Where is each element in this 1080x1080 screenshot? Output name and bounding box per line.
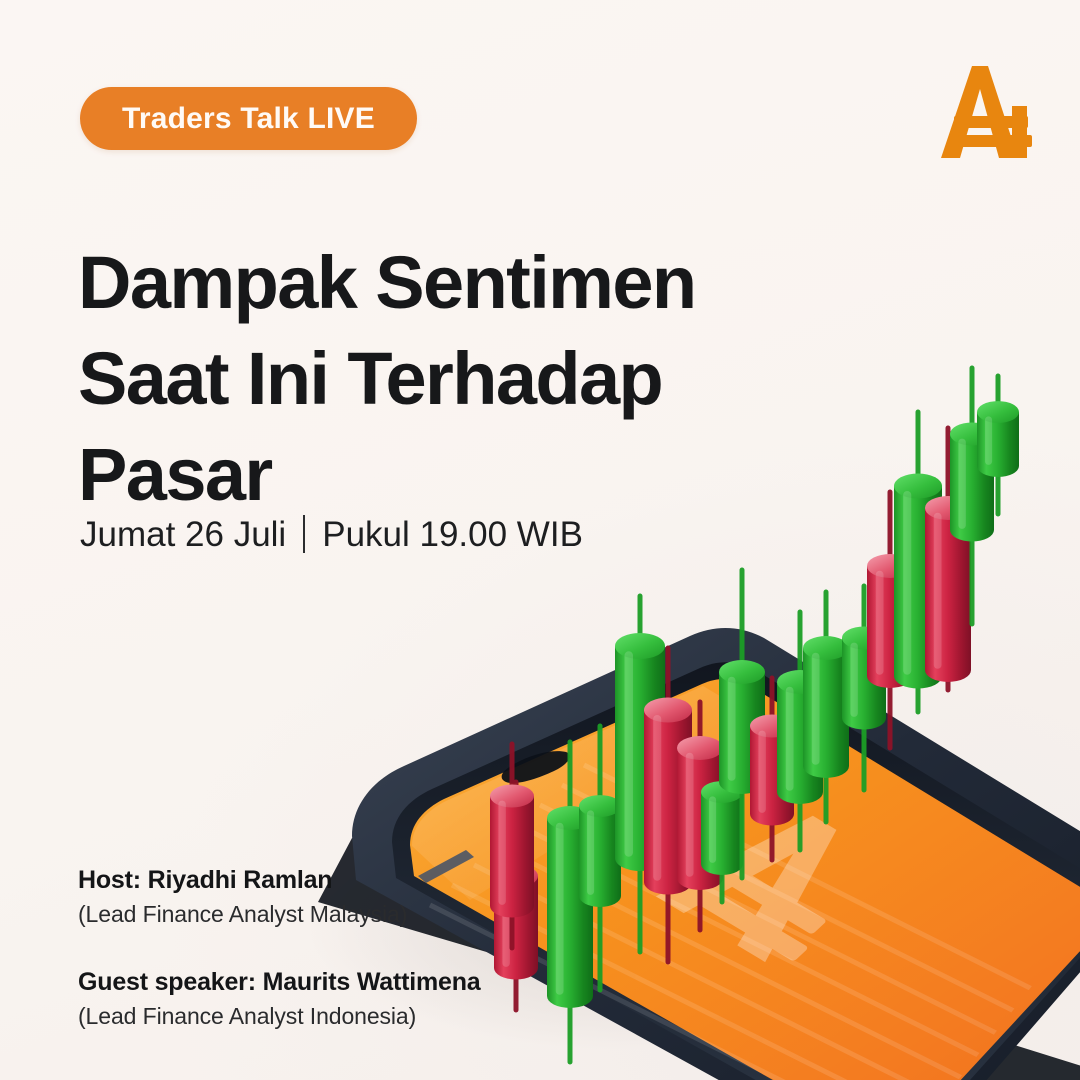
phone-notch: [502, 751, 570, 783]
schedule-divider: [303, 515, 305, 553]
schedule-date: Jumat 26 Juli: [80, 517, 286, 552]
candlestick: [803, 592, 849, 822]
schedule-time: Pukul 19.00 WIB: [322, 517, 583, 552]
candlestick: [867, 492, 913, 748]
candlestick: [894, 412, 942, 712]
candlestick: [842, 586, 886, 790]
credit-host-role: (Lead Finance Analyst Malaysia): [78, 901, 638, 929]
credit-guest: Guest speaker: Maurits Wattimena (Lead F…: [78, 968, 638, 1030]
candlestick: [701, 744, 743, 902]
credit-host: Host: Riyadhi Ramlan (Lead Finance Analy…: [78, 866, 638, 928]
candlestick: [950, 368, 994, 624]
candlestick: [777, 612, 823, 850]
schedule-line: Jumat 26 Juli Pukul 19.00 WIB: [80, 515, 583, 553]
candlestick: [925, 428, 971, 690]
credits: Host: Riyadhi Ramlan (Lead Finance Analy…: [78, 866, 638, 1030]
candlestick: [677, 702, 723, 930]
credit-guest-name: Guest speaker: Maurits Wattimena: [78, 968, 638, 998]
page-title: Dampak Sentimen Saat Ini Terhadap Pasar: [78, 246, 838, 512]
candlestick: [719, 570, 765, 878]
candlestick: [977, 376, 1019, 514]
brand-a-logo-icon: [928, 60, 1038, 164]
live-badge-label: Traders Talk LIVE: [122, 104, 375, 134]
candlestick: [644, 648, 692, 962]
live-badge: Traders Talk LIVE: [80, 87, 417, 150]
headline-line-3: Pasar: [78, 438, 838, 512]
credit-guest-role: (Lead Finance Analyst Indonesia): [78, 1003, 638, 1031]
credit-host-name: Host: Riyadhi Ramlan: [78, 866, 638, 896]
headline-line-1: Dampak Sentimen: [78, 246, 838, 320]
screen-watermark-logo: [656, 790, 897, 972]
headline-line-2: Saat Ini Terhadap: [78, 342, 838, 416]
promo-poster: Traders Talk LIVE Dampak Sentimen Saat I…: [0, 0, 1080, 1080]
candlestick: [750, 678, 794, 860]
